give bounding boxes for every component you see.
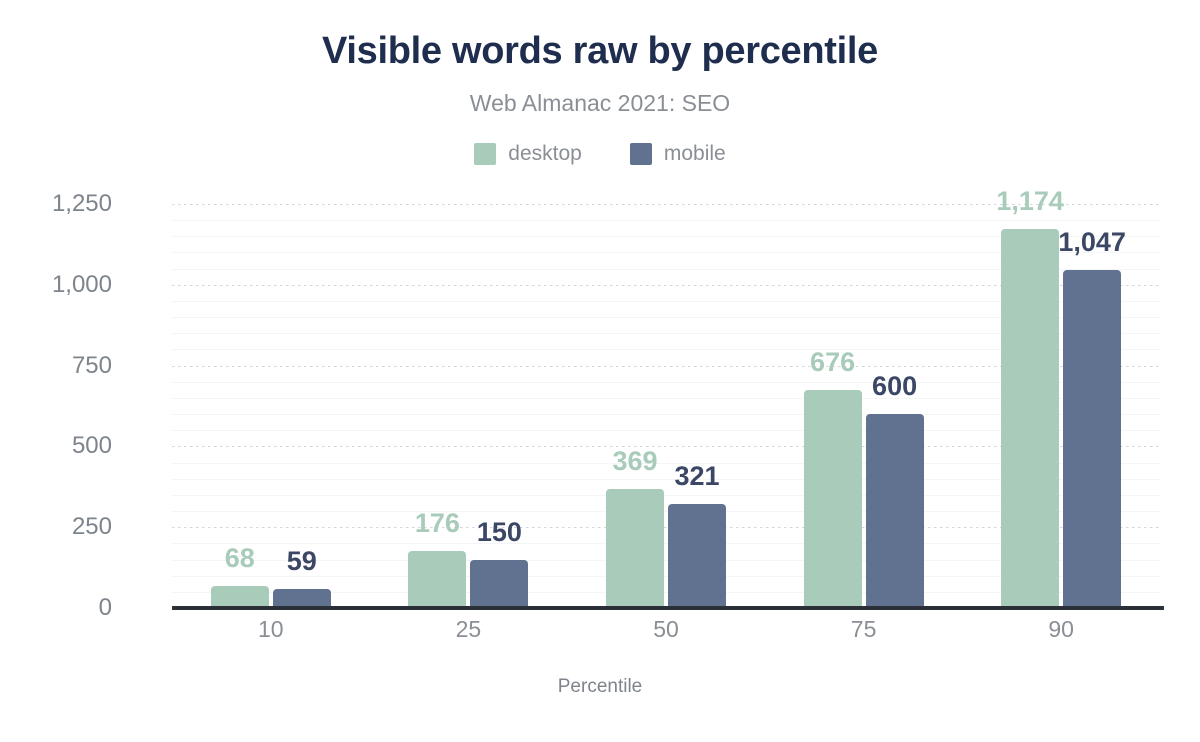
bar-group: 176150 (370, 204, 568, 608)
legend-swatch-desktop (474, 143, 496, 165)
x-axis-ticks: 1025507590 (172, 616, 1160, 643)
y-axis-tick-label: 750 (0, 352, 112, 380)
legend-swatch-mobile (630, 143, 652, 165)
bar-desktop[interactable] (211, 586, 269, 608)
bar-wrapper-mobile: 150 (470, 204, 528, 608)
y-axis-tick-label: 250 (0, 513, 112, 541)
x-axis-tick-label: 90 (962, 616, 1160, 643)
bar-value-label: 59 (227, 546, 377, 577)
y-axis-tick-label: 1,000 (0, 271, 112, 299)
x-axis-tick-label: 50 (567, 616, 765, 643)
bar-mobile[interactable] (1063, 270, 1121, 608)
bar-wrapper-desktop: 1,174 (1001, 204, 1059, 608)
bar-mobile[interactable] (668, 504, 726, 608)
legend-item-mobile[interactable]: mobile (630, 142, 726, 166)
bar-group: 6859 (172, 204, 370, 608)
bar-wrapper-desktop: 676 (804, 204, 862, 608)
bar-value-label: 321 (622, 461, 772, 492)
bar-value-label: 1,047 (1017, 227, 1167, 258)
bar-value-label: 150 (424, 517, 574, 548)
bar-desktop[interactable] (408, 551, 466, 608)
legend-item-desktop[interactable]: desktop (474, 142, 582, 166)
chart-legend: desktop mobile (0, 142, 1200, 166)
bar-desktop[interactable] (1001, 229, 1059, 608)
y-axis-tick-label: 0 (0, 594, 112, 622)
x-axis-baseline (172, 606, 1164, 610)
bar-wrapper-mobile: 1,047 (1063, 204, 1121, 608)
bar-wrapper-mobile: 59 (273, 204, 331, 608)
x-axis-title: Percentile (0, 676, 1200, 698)
bar-group: 1,1741,047 (962, 204, 1160, 608)
legend-label-mobile: mobile (664, 142, 726, 166)
y-axis-tick-label: 500 (0, 432, 112, 460)
bar-mobile[interactable] (866, 414, 924, 608)
bar-groups: 68591761503693216766001,1741,047 (172, 204, 1160, 608)
bar-desktop[interactable] (606, 489, 664, 608)
x-axis-tick-label: 10 (172, 616, 370, 643)
bar-group: 676600 (765, 204, 963, 608)
bar-wrapper-mobile: 600 (866, 204, 924, 608)
bar-mobile[interactable] (470, 560, 528, 608)
bar-wrapper-mobile: 321 (668, 204, 726, 608)
x-axis-tick-label: 75 (765, 616, 963, 643)
bar-value-label: 600 (820, 371, 970, 402)
y-axis-tick-label: 1,250 (0, 190, 112, 218)
chart-container: Visible words raw by percentile Web Alma… (0, 0, 1200, 742)
bar-wrapper-desktop: 369 (606, 204, 664, 608)
bar-desktop[interactable] (804, 390, 862, 608)
legend-label-desktop: desktop (508, 142, 582, 166)
chart-subtitle: Web Almanac 2021: SEO (0, 90, 1200, 117)
plot-area: 02505007501,0001,250 6859176150369321676… (172, 204, 1160, 608)
chart-title: Visible words raw by percentile (0, 30, 1200, 73)
bar-group: 369321 (567, 204, 765, 608)
x-axis-tick-label: 25 (370, 616, 568, 643)
